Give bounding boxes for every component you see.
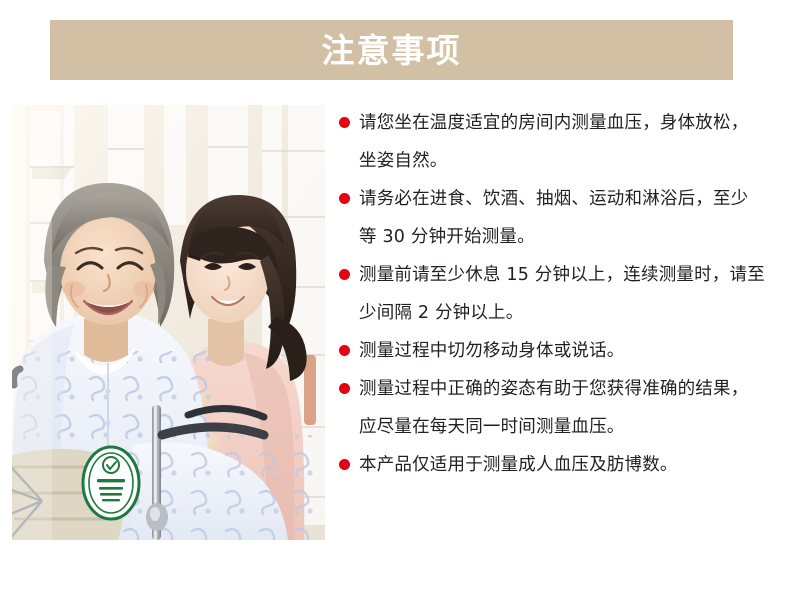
- notice-text-rest-15-minutes: 测量前请至少休息 15 分钟以上，连续测量时，请至 少间隔 2 分钟以上。: [359, 256, 782, 332]
- notice-photo: [12, 105, 325, 540]
- notice-item-do-not-move: 测量过程中切勿移动身体或说话。: [336, 332, 782, 370]
- wheelchair-certification-sticker: [83, 447, 139, 519]
- bullet-dot-icon: [339, 383, 350, 394]
- bullet-dot-icon: [339, 117, 350, 128]
- photo-illustration: [12, 105, 325, 540]
- notice-item-correct-posture: 测量过程中正确的姿态有助于您获得准确的结果， 应尽量在每天同一时间测量血压。: [336, 370, 782, 446]
- notice-item-room-temperature: 请您坐在温度适宜的房间内测量血压，身体放松， 坐姿自然。: [336, 104, 782, 180]
- bullet-dot-icon: [339, 459, 350, 470]
- notice-page: 注意事项: [0, 0, 790, 600]
- notice-text-adults-only: 本产品仅适用于测量成人血压及肪博数。: [359, 446, 782, 484]
- bullet-dot-icon: [339, 345, 350, 356]
- page-title: 注意事项: [322, 34, 462, 67]
- notice-text-wait-30-minutes: 请务必在进食、饮酒、抽烟、运动和淋浴后，至少 等 30 分钟开始测量。: [359, 180, 782, 256]
- notice-item-wait-30-minutes: 请务必在进食、饮酒、抽烟、运动和淋浴后，至少 等 30 分钟开始测量。: [336, 180, 782, 256]
- bullet-dot-icon: [339, 269, 350, 280]
- page-header-banner: 注意事项: [50, 20, 733, 80]
- notice-text-room-temperature: 请您坐在温度适宜的房间内测量血压，身体放松， 坐姿自然。: [359, 104, 782, 180]
- notice-list: 请您坐在温度适宜的房间内测量血压，身体放松， 坐姿自然。 请务必在进食、饮酒、抽…: [336, 104, 782, 484]
- notice-item-rest-15-minutes: 测量前请至少休息 15 分钟以上，连续测量时，请至 少间隔 2 分钟以上。: [336, 256, 782, 332]
- bullet-dot-icon: [339, 193, 350, 204]
- notice-text-correct-posture: 测量过程中正确的姿态有助于您获得准确的结果， 应尽量在每天同一时间测量血压。: [359, 370, 782, 446]
- notice-item-adults-only: 本产品仅适用于测量成人血压及肪博数。: [336, 446, 782, 484]
- notice-text-do-not-move: 测量过程中切勿移动身体或说话。: [359, 332, 782, 370]
